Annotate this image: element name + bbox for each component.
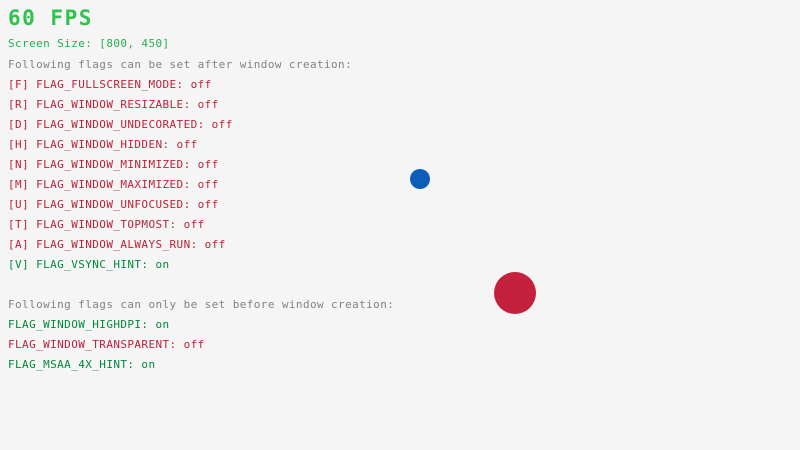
flag-row-flag-window-always-run[interactable]: [A] FLAG_WINDOW_ALWAYS_RUN: off — [8, 239, 226, 251]
flag-row-flag-vsync-hint[interactable]: [V] FLAG_VSYNC_HINT: on — [8, 259, 170, 271]
flag-row-flag-fullscreen-mode[interactable]: [F] FLAG_FULLSCREEN_MODE: off — [8, 79, 212, 91]
flag-row-flag-window-undecorated[interactable]: [D] FLAG_WINDOW_UNDECORATED: off — [8, 119, 233, 131]
fps-counter: 60 FPS — [8, 7, 93, 29]
raylib-window-canvas[interactable]: 60 FPS Screen Size: [800, 450] Following… — [0, 0, 800, 450]
flag-row-flag-window-highdpi[interactable]: FLAG_WINDOW_HIGHDPI: on — [8, 319, 170, 331]
flag-row-flag-window-unfocused[interactable]: [U] FLAG_WINDOW_UNFOCUSED: off — [8, 199, 219, 211]
flag-row-flag-window-maximized[interactable]: [M] FLAG_WINDOW_MAXIMIZED: off — [8, 179, 219, 191]
flag-row-flag-window-minimized[interactable]: [N] FLAG_WINDOW_MINIMIZED: off — [8, 159, 219, 171]
flag-row-flag-msaa-4x-hint[interactable]: FLAG_MSAA_4X_HINT: on — [8, 359, 155, 371]
flag-row-flag-window-transparent[interactable]: FLAG_WINDOW_TRANSPARENT: off — [8, 339, 205, 351]
flag-row-flag-window-hidden[interactable]: [H] FLAG_WINDOW_HIDDEN: off — [8, 139, 198, 151]
section-header-after-creation: Following flags can be set after window … — [8, 59, 352, 71]
flag-row-flag-window-resizable[interactable]: [R] FLAG_WINDOW_RESIZABLE: off — [8, 99, 219, 111]
blue-ball — [410, 169, 430, 189]
flag-row-flag-window-topmost[interactable]: [T] FLAG_WINDOW_TOPMOST: off — [8, 219, 205, 231]
red-ball — [494, 272, 536, 314]
screen-size-label: Screen Size: [800, 450] — [8, 38, 170, 50]
section-header-before-creation: Following flags can only be set before w… — [8, 299, 394, 311]
